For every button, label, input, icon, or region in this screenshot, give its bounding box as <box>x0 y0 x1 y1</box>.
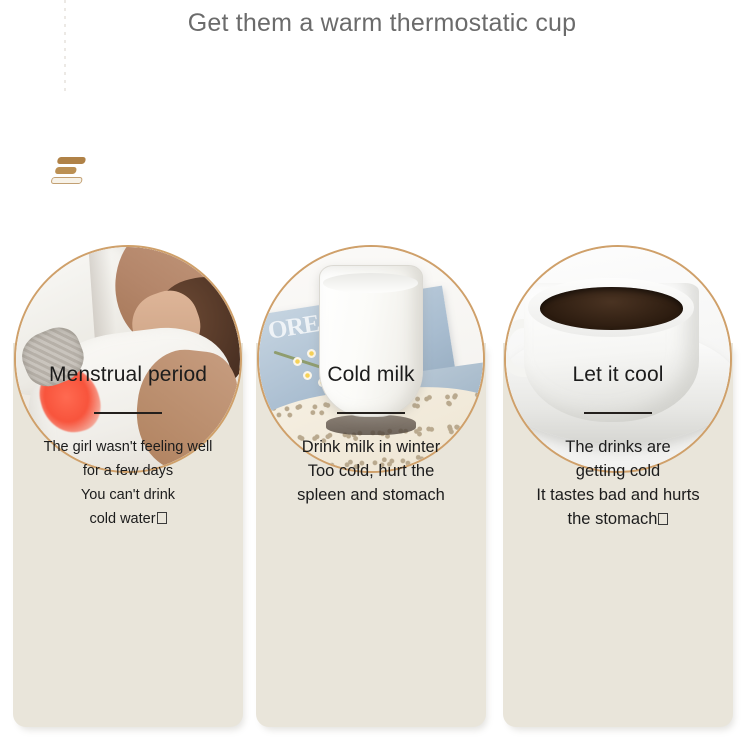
card-body: The girl wasn't feeling well for a few d… <box>13 435 243 531</box>
card-body-line: getting cold <box>507 459 729 483</box>
three-bars-icon <box>50 157 96 187</box>
missing-glyph-box <box>658 513 668 525</box>
card-body-line: The drinks are <box>507 435 729 459</box>
card-title: Cold milk <box>256 363 486 387</box>
card-title: Let it cool <box>503 363 733 387</box>
card-body-line-text: the stomach <box>568 510 658 528</box>
card-divider <box>584 412 652 414</box>
feature-card-menstrual-period[interactable]: Menstrual period The girl wasn't feeling… <box>13 343 243 727</box>
card-body-line: You can't drink <box>17 483 239 507</box>
feature-cards-row: Menstrual period The girl wasn't feeling… <box>0 245 750 750</box>
dotted-rule-decoration <box>64 0 66 92</box>
card-body-line: Too cold, hurt the <box>260 459 482 483</box>
page-title: Get them a warm thermostatic cup <box>0 0 750 46</box>
missing-glyph-box <box>157 512 167 524</box>
feature-card-let-it-cool[interactable]: Let it cool The drinks are getting cold … <box>503 343 733 727</box>
card-body-line-last: cold water <box>17 507 239 531</box>
feature-card-cold-milk[interactable]: ORE <box>256 343 486 727</box>
card-body-line-text: cold water <box>89 511 155 527</box>
bar-middle <box>55 167 77 174</box>
card-body-line: spleen and stomach <box>260 483 482 507</box>
bar-bottom-outline <box>50 177 82 184</box>
page-root: Get them a warm thermostatic cup <box>0 0 750 750</box>
card-divider <box>337 412 405 414</box>
card-body-line: Drink milk in winter <box>260 435 482 459</box>
card-divider <box>94 412 162 414</box>
card-body-line: The girl wasn't feeling well <box>17 435 239 459</box>
card-body-line-last: the stomach <box>507 507 729 531</box>
card-title: Menstrual period <box>13 363 243 387</box>
card-body-line: for a few days <box>17 459 239 483</box>
bar-top <box>57 157 86 164</box>
card-body: The drinks are getting cold It tastes ba… <box>503 435 733 531</box>
card-body: Drink milk in winter Too cold, hurt the … <box>256 435 486 507</box>
card-body-line: It tastes bad and hurts <box>507 483 729 507</box>
